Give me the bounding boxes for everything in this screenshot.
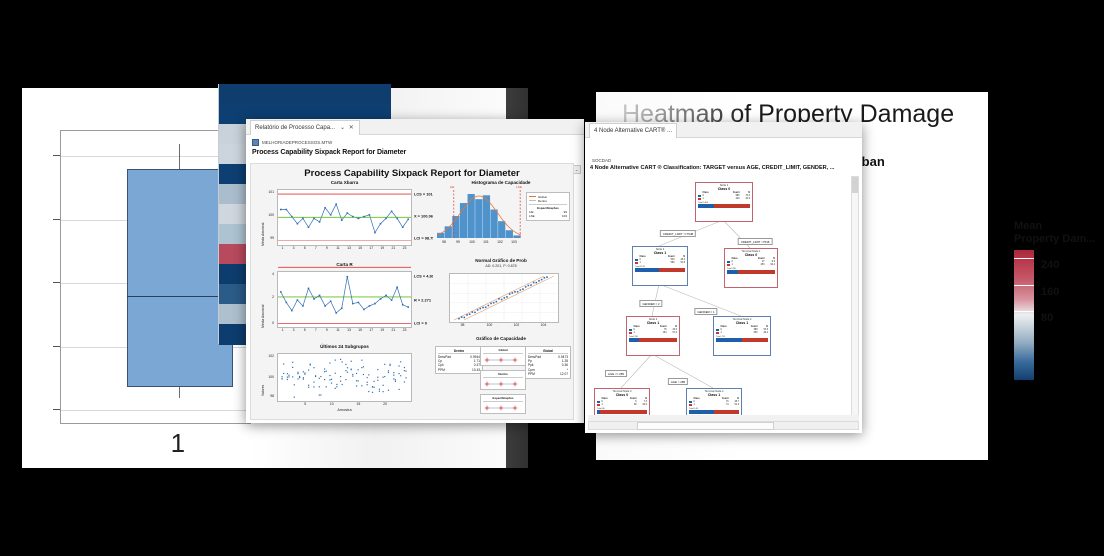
worksheet-label: SOCDAD bbox=[592, 158, 611, 163]
count-pct: 51.8 bbox=[676, 262, 685, 265]
sp-xtick-xbar: 13 bbox=[347, 246, 351, 250]
cart-node-bar-red bbox=[600, 410, 647, 414]
cart-node-bar bbox=[689, 410, 739, 414]
cart-node-bar-red bbox=[738, 270, 775, 274]
boxplot-tickmark bbox=[53, 155, 60, 156]
overall-name: PPM bbox=[528, 372, 535, 376]
cart-split-label: GENDER = 1 bbox=[694, 308, 717, 315]
capability-within-table: DentroDesvPad0.9944Cp1.71Cpk0.37PPM13.43 bbox=[435, 346, 483, 374]
cart-node-bar bbox=[716, 338, 768, 342]
probplot-subtitle: AD: 0.201, P: 0.878 bbox=[433, 264, 569, 268]
sp-xtick-histogram: 101 bbox=[483, 240, 489, 244]
boxplot-gridline bbox=[61, 410, 251, 411]
boxplot-tickmark bbox=[53, 282, 60, 283]
sp-xtick-probplot: 98 bbox=[461, 323, 465, 327]
count-pct: 90.4 bbox=[766, 264, 775, 267]
cart-node-table: ClassCount%098070.0142030.0 bbox=[696, 192, 752, 201]
legend-label: Dentro bbox=[538, 199, 547, 203]
sp-xtick-r: 3 bbox=[293, 328, 295, 332]
cart-horizontal-scrollbar[interactable] bbox=[588, 421, 859, 430]
cart-node: Terminal Node 2Class 1ClassCount%038853.… bbox=[713, 316, 771, 356]
sp-xtick-histogram: 99 bbox=[456, 240, 460, 244]
spec-value: 103 bbox=[562, 214, 567, 218]
count-class: 1 bbox=[640, 262, 645, 265]
cart-horizontal-scroll-thumb[interactable] bbox=[637, 422, 774, 430]
tab-close-icon[interactable]: ⌄ ✕ bbox=[340, 121, 355, 135]
r-ytick: 2 bbox=[257, 295, 274, 299]
cart-node-bar-blue bbox=[698, 204, 714, 208]
sp-xtick-histogram: 102 bbox=[497, 240, 503, 244]
overall-row: PPM12.07 bbox=[528, 372, 568, 376]
within-row: PPM13.43 bbox=[438, 368, 480, 372]
capability-bar-label: Especificações bbox=[483, 396, 523, 402]
cart-node-count-row: 125390.4 bbox=[727, 264, 775, 267]
cart-node-bar-blue bbox=[716, 338, 742, 342]
sp-xtick-xbar: 5 bbox=[304, 246, 306, 250]
cart-node-table: ClassCount%07633.0115467.0 bbox=[627, 326, 679, 335]
r-ytick: 0 bbox=[257, 321, 274, 325]
cart-tabbar: 4 Node Alternative CART® ... bbox=[585, 122, 862, 138]
count-pct: 30.0 bbox=[741, 198, 750, 201]
cart-node-bar-blue bbox=[629, 338, 639, 342]
cart-node-table: ClassCount%067.018093.0 bbox=[595, 398, 649, 407]
cart-node-count-row: 133646.4 bbox=[716, 332, 768, 335]
tab-sixpack-report[interactable]: Relatório de Processo Capa... ⌄ ✕ bbox=[250, 120, 360, 135]
xbar-ytick: 100 bbox=[257, 213, 274, 217]
count-class: 1 bbox=[703, 198, 708, 201]
cart-node-count-row: 142030.0 bbox=[698, 198, 750, 201]
sp-xtick-r: 23 bbox=[403, 328, 407, 332]
worksheet-label: MELHORIADEPROCESSOS.MTW bbox=[262, 140, 332, 145]
count-pct: 67.0 bbox=[668, 332, 677, 335]
sp-xtick-r: 15 bbox=[358, 328, 362, 332]
r-plot-frame bbox=[277, 271, 412, 328]
xbar-plot-frame bbox=[277, 189, 412, 246]
count-class: 1 bbox=[732, 264, 737, 267]
count-swatch bbox=[635, 262, 638, 264]
boxplot-tickmark bbox=[53, 409, 60, 410]
cart-worksheet-name: SOCDAD bbox=[592, 158, 611, 163]
within-name: PPM bbox=[438, 368, 445, 372]
cart-node-table: ClassCount%07048.717451.3 bbox=[687, 398, 741, 407]
r-chart-title: Carta R bbox=[257, 262, 432, 267]
count-swatch bbox=[698, 198, 701, 200]
spec-name: LSE bbox=[529, 214, 535, 218]
heatmap-colorbar-tick: 240 bbox=[1041, 259, 1059, 271]
cart-node-bar bbox=[629, 338, 677, 342]
sp-xtick-r: 7 bbox=[315, 328, 317, 332]
cart-node-count-row: 158051.8 bbox=[635, 262, 685, 265]
heatmap-colorbar-tick: 160 bbox=[1041, 286, 1059, 298]
subgroups-xlabel: Amostra bbox=[257, 408, 432, 412]
probplot-chart: Normal Gráfico de Prob AD: 0.201, P: 0.8… bbox=[433, 258, 569, 334]
cart-node-table: ClassCount%0279.6125390.4 bbox=[725, 258, 777, 267]
cart-node-bar-blue bbox=[635, 268, 659, 272]
sp-xtick-xbar: 3 bbox=[293, 246, 295, 250]
overall-header: Global bbox=[528, 349, 568, 355]
capability-chart: Gráfico de Capacidade DentroDesvPad0.994… bbox=[433, 336, 569, 416]
heatmap-colorbar-separator bbox=[1014, 311, 1034, 312]
count-class: 1 bbox=[634, 332, 639, 335]
histogram-plot-frame bbox=[437, 190, 521, 238]
heatmap-colorbar-tick: 80 bbox=[1041, 312, 1053, 324]
sp-xtick-xbar: 23 bbox=[403, 246, 407, 250]
sp-xtick-r: 19 bbox=[380, 328, 384, 332]
screenshot-stage: Boxplot 051015201 Heatmap of Property Da… bbox=[0, 0, 1104, 556]
count-class: 1 bbox=[602, 404, 607, 407]
cart-split-label: GENDER = 2 bbox=[639, 300, 662, 307]
cart-node: Node 1Class 0ClassCount%098070.0142030.0… bbox=[695, 182, 753, 222]
tab-label: 4 Node Alternative CART® ... bbox=[594, 124, 672, 138]
cart-node-bar-red bbox=[714, 204, 750, 208]
cart-split-label: AGE <= 285 bbox=[605, 370, 627, 377]
xbar-center-label: X = 100.060 bbox=[414, 214, 435, 219]
count-n: 336 bbox=[727, 332, 758, 335]
sp-xtick-r: 1 bbox=[282, 328, 284, 332]
probplot-title: Normal Gráfico de Prob bbox=[433, 258, 569, 263]
sp-xtick-subgroups: 15 bbox=[357, 402, 361, 406]
count-class: 1 bbox=[721, 332, 726, 335]
cart-vertical-scrollbar[interactable] bbox=[851, 176, 859, 419]
legend-title-line2: Property Dam... bbox=[1014, 233, 1095, 245]
sp-xtick-r: 11 bbox=[336, 328, 340, 332]
tab-cart-classification[interactable]: 4 Node Alternative CART® ... bbox=[589, 123, 677, 138]
cart-node-bar-red bbox=[714, 410, 740, 414]
cart-node-count-row: 17451.3 bbox=[689, 404, 739, 407]
capability-bar-box: Global bbox=[480, 346, 526, 366]
count-swatch bbox=[716, 332, 719, 334]
cart-node: Node 3Class 1ClassCount%07633.0115467.0T… bbox=[626, 316, 680, 356]
heatmap-colorbar-separator bbox=[1014, 258, 1034, 259]
count-n: 154 bbox=[640, 332, 667, 335]
capability-bar-label: Global bbox=[483, 348, 523, 354]
cart-window[interactable]: 4 Node Alternative CART® ... SOCDAD 4 No… bbox=[585, 122, 862, 432]
overall-value: 12.07 bbox=[560, 372, 568, 376]
probplot-plot-frame bbox=[449, 273, 559, 323]
sixpack-canvas: Process Capability Sixpack Report for Di… bbox=[250, 163, 574, 420]
cart-node-bar bbox=[635, 268, 685, 272]
legend-title-line1: Mean bbox=[1014, 220, 1042, 232]
histogram-chart: Histograma de Capacidade 989910010110210… bbox=[433, 180, 569, 254]
sp-xtick-xbar: 21 bbox=[391, 246, 395, 250]
count-swatch bbox=[597, 404, 600, 406]
boxplot-upper-whisker bbox=[179, 144, 180, 169]
heatmap-legend-title: Mean Property Dam... bbox=[1014, 220, 1095, 246]
subgroups-ytick: 98 bbox=[257, 394, 274, 398]
subgroups-title: Últimos 24 Subgrupos bbox=[257, 344, 432, 349]
sp-xtick-xbar: 19 bbox=[380, 246, 384, 250]
boxplot-box bbox=[127, 169, 233, 387]
sixpack-report-title: Process Capability Sixpack Report for Di… bbox=[251, 168, 573, 179]
sp-xtick-probplot: 100 bbox=[487, 323, 493, 327]
sp-xtick-xbar: 1 bbox=[282, 246, 284, 250]
sp-xtick-r: 13 bbox=[347, 328, 351, 332]
sixpack-worksheet-name: MELHORIADEPROCESSOS.MTW bbox=[252, 139, 332, 146]
r-ytick: 4 bbox=[257, 272, 274, 276]
count-pct: 93.0 bbox=[638, 404, 647, 407]
sp-xtick-histogram: 98 bbox=[442, 240, 446, 244]
count-n: 80 bbox=[608, 404, 637, 407]
sp-xtick-xbar: 9 bbox=[326, 246, 328, 250]
sp-xtick-subgroups: 5 bbox=[304, 402, 306, 406]
cart-node: Node 2Class 1ClassCount%054048.2158051.8… bbox=[632, 246, 688, 286]
legend-swatch bbox=[529, 196, 536, 197]
boxplot-tickmark bbox=[53, 346, 60, 347]
count-swatch bbox=[689, 404, 692, 406]
count-swatch bbox=[727, 264, 730, 266]
cart-split-label: AGE > 285 bbox=[668, 378, 688, 385]
r-center-label: R = 2.271 bbox=[414, 298, 431, 303]
xbar-chart: Carta Xbarra Média Amostral 101 100 99 1… bbox=[257, 180, 432, 258]
sp-xtick-probplot: 104 bbox=[541, 323, 547, 327]
heatmap-colorbar bbox=[1014, 250, 1034, 380]
legend-swatch bbox=[529, 200, 536, 201]
histogram-lsl-label: LIE bbox=[450, 185, 455, 189]
count-swatch bbox=[629, 332, 632, 334]
histogram-legend-item: Dentro bbox=[529, 199, 567, 203]
cart-doc-header: 4 Node Alternative CART ® Classification… bbox=[590, 165, 835, 171]
sp-xtick-xbar: 17 bbox=[369, 246, 373, 250]
sp-xtick-xbar: 11 bbox=[336, 246, 340, 250]
sp-xtick-xbar: 15 bbox=[358, 246, 362, 250]
cart-node-table: ClassCount%038853.6133646.4 bbox=[714, 326, 770, 335]
subgroups-ytick: 102 bbox=[257, 354, 274, 358]
sp-xtick-r: 21 bbox=[391, 328, 395, 332]
subgroups-chart: Últimos 24 Subgrupos Valores 102 100 98 … bbox=[257, 344, 432, 416]
sixpack-window[interactable]: Relatório de Processo Capa... ⌄ ✕ MELHOR… bbox=[246, 119, 584, 422]
r-lcl-label: LCI = 0 bbox=[414, 321, 427, 326]
cart-node-bar bbox=[727, 270, 775, 274]
count-pct: 46.4 bbox=[759, 332, 768, 335]
subgroups-plot-frame bbox=[277, 353, 412, 402]
count-n: 253 bbox=[738, 264, 765, 267]
cart-node-bar bbox=[698, 204, 750, 208]
sp-xtick-r: 5 bbox=[304, 328, 306, 332]
xbar-ylabel: Média Amostral bbox=[261, 223, 265, 246]
cart-node-table: ClassCount%054048.2158051.8 bbox=[633, 256, 687, 265]
cart-node: Terminal Node 1Class 0ClassCount%0279.61… bbox=[724, 248, 778, 288]
sixpack-tabbar: Relatório de Processo Capa... ⌄ ✕ bbox=[246, 119, 584, 135]
sp-xtick-subgroups: 20 bbox=[383, 402, 387, 406]
heatmap-cell bbox=[219, 84, 391, 105]
cart-node-bar-blue bbox=[727, 270, 738, 274]
r-chart: Carta R Média Amostral 4 2 0 13579111315… bbox=[257, 262, 432, 340]
boxplot-tickmark bbox=[53, 219, 60, 220]
sp-xtick-probplot: 102 bbox=[514, 323, 520, 327]
cart-tree-canvas: Node 1Class 0ClassCount%098070.0142030.0… bbox=[588, 176, 852, 419]
capability-overall-table: GlobalDesvPad0.9473Pp1.28Ppk0.36Cpm*PPM1… bbox=[525, 346, 571, 379]
cart-node-bar-red bbox=[742, 338, 768, 342]
heatmap-colorbar-separator bbox=[1014, 285, 1034, 286]
cart-node-bar bbox=[597, 410, 647, 414]
subgroups-ytick: 100 bbox=[257, 375, 274, 379]
capability-bar-box: Dentro bbox=[480, 370, 526, 390]
count-n: 420 bbox=[709, 198, 740, 201]
cart-split-label: CREDIT_LIMIT <=7548 bbox=[660, 230, 696, 237]
capability-bar-box: Especificações bbox=[480, 394, 526, 414]
sp-xtick-xbar: 7 bbox=[315, 246, 317, 250]
histogram-spec-row: LSE103 bbox=[529, 214, 567, 218]
worksheet-icon bbox=[252, 139, 259, 146]
count-pct: 51.3 bbox=[730, 404, 739, 407]
cart-node-bar-red bbox=[639, 338, 677, 342]
cart-node-count-row: 115467.0 bbox=[629, 332, 677, 335]
sp-xtick-r: 17 bbox=[369, 328, 373, 332]
tab-label: Relatório de Processo Capa... bbox=[255, 121, 335, 135]
sixpack-doc-header: Process Capability Sixpack Report for Di… bbox=[252, 149, 406, 156]
within-value: 13.43 bbox=[472, 368, 480, 372]
cart-node-count-row: 18093.0 bbox=[597, 404, 647, 407]
sp-xtick-histogram: 100 bbox=[469, 240, 475, 244]
cart-node-bar-blue bbox=[689, 410, 714, 414]
capability-bar-label: Dentro bbox=[483, 372, 523, 378]
histogram-legend: GlobalDentroEspecificaçõesLIE99LSE103 bbox=[526, 192, 570, 221]
xbar-chart-title: Carta Xbarra bbox=[257, 180, 432, 185]
sp-xtick-r: 9 bbox=[326, 328, 328, 332]
histogram-usl-label: LSE bbox=[516, 185, 522, 189]
sp-xtick-subgroups: 10 bbox=[330, 402, 334, 406]
cart-split-label: CREDIT_LIMIT >7548 bbox=[738, 238, 773, 245]
cart-vertical-scroll-thumb[interactable] bbox=[852, 177, 858, 193]
count-n: 580 bbox=[646, 262, 675, 265]
sp-xtick-histogram: 103 bbox=[511, 240, 517, 244]
cart-node-bar-red bbox=[659, 268, 685, 272]
xbar-ytick: 101 bbox=[257, 190, 274, 194]
count-n: 74 bbox=[700, 404, 729, 407]
xbar-ytick: 99 bbox=[257, 236, 274, 240]
boxplot-median-line bbox=[127, 296, 231, 297]
boxplot-xtick-label: 1 bbox=[171, 428, 185, 459]
count-class: 1 bbox=[694, 404, 699, 407]
capability-title: Gráfico de Capacidade bbox=[433, 336, 569, 341]
within-header: Dentro bbox=[438, 349, 480, 355]
